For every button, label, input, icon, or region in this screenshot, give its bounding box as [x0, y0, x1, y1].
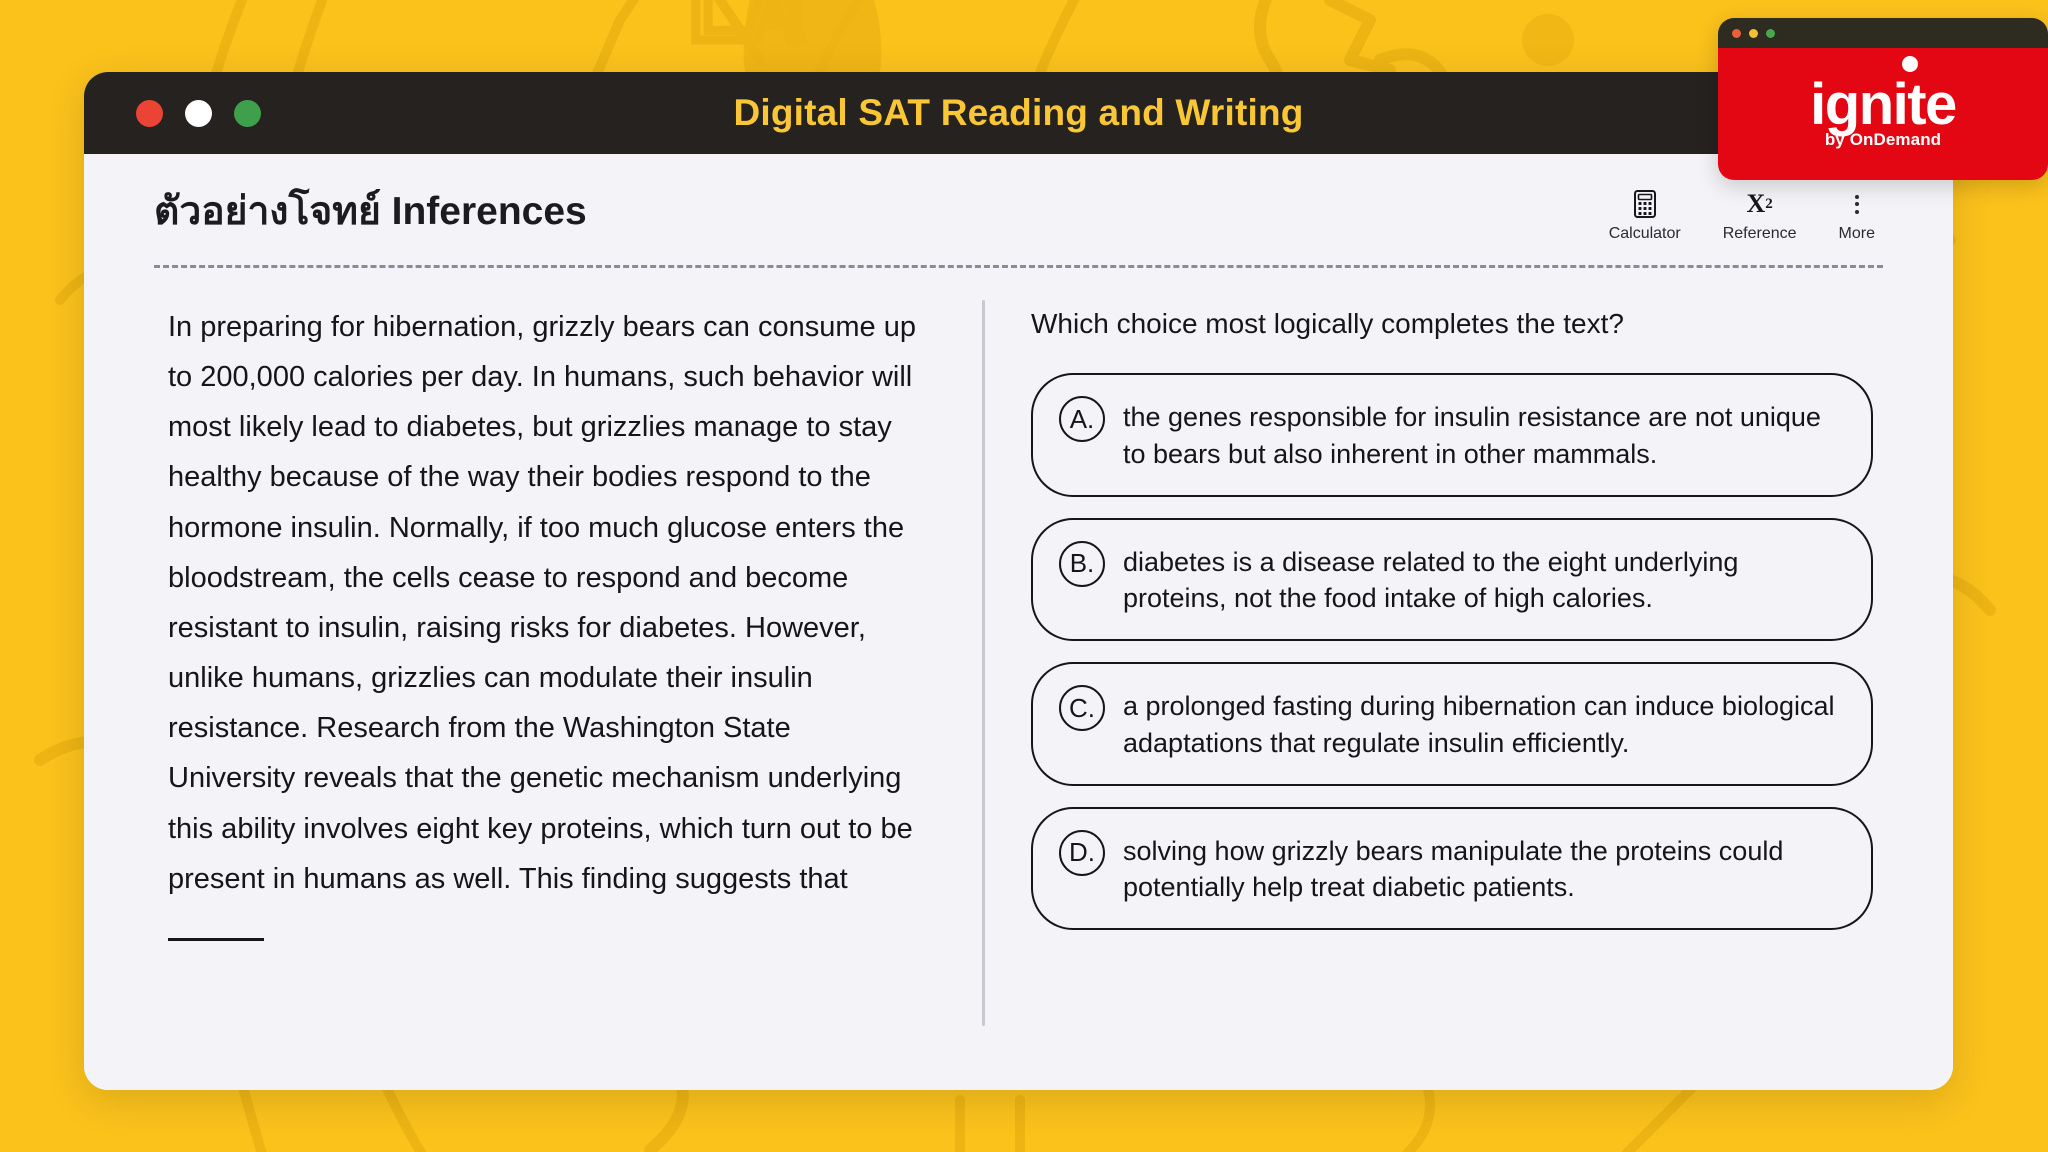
choice-text-a: the genes responsible for insulin resist…: [1123, 395, 1845, 472]
answer-choice-d[interactable]: D. solving how grizzly bears manipulate …: [1031, 807, 1873, 930]
ignite-wordmark: ignite: [1810, 78, 1956, 131]
question-stem: Which choice most logically completes th…: [1031, 304, 1873, 343]
calculator-button[interactable]: Calculator: [1609, 188, 1681, 243]
reference-glyph-sup: 2: [1765, 197, 1773, 212]
reference-button[interactable]: X2 Reference: [1723, 188, 1797, 243]
more-icon: [1855, 188, 1859, 220]
choice-letter-b: B.: [1059, 541, 1105, 587]
question-column: Which choice most logically completes th…: [985, 294, 1883, 1056]
ignite-logo-card: ignite by OnDemand: [1718, 18, 2048, 180]
choice-letter-c: C.: [1059, 685, 1105, 731]
answer-choice-a[interactable]: A. the genes responsible for insulin res…: [1031, 373, 1873, 496]
choice-letter-d: D.: [1059, 830, 1105, 876]
calculator-label: Calculator: [1609, 225, 1681, 243]
ignite-spark-icon: [1902, 56, 1918, 72]
more-button[interactable]: More: [1839, 188, 1875, 243]
toolbar: Calculator X2 Reference More: [1609, 182, 1883, 243]
passage-blank-line: [168, 938, 264, 941]
content-body: In preparing for hibernation, grizzly be…: [128, 268, 1909, 1090]
logo-close-dot: [1732, 29, 1741, 38]
answer-choice-b[interactable]: B. diabetes is a disease related to the …: [1031, 518, 1873, 641]
app-window: Digital SAT Reading and Writing ตัวอย่าง…: [84, 72, 1953, 1090]
passage-text: In preparing for hibernation, grizzly be…: [168, 302, 926, 904]
kebab-dots: [1855, 195, 1859, 214]
choice-text-b: diabetes is a disease related to the eig…: [1123, 540, 1845, 617]
window-content: ตัวอย่างโจทย์ Inferences: [84, 154, 1953, 1090]
logo-minimize-dot: [1749, 29, 1758, 38]
choice-letter-a: A.: [1059, 396, 1105, 442]
window-titlebar: Digital SAT Reading and Writing: [84, 72, 1953, 154]
passage-column: In preparing for hibernation, grizzly be…: [154, 294, 982, 1056]
logo-maximize-dot: [1766, 29, 1775, 38]
page-title: ตัวอย่างโจทย์ Inferences: [154, 182, 587, 237]
reference-label: Reference: [1723, 225, 1797, 243]
reference-glyph-base: X: [1746, 191, 1765, 217]
calculator-icon: [1634, 188, 1656, 220]
more-label: More: [1839, 225, 1875, 243]
logo-card-body: ignite by OnDemand: [1718, 48, 2048, 180]
reference-icon: X2: [1746, 188, 1772, 220]
content-header: ตัวอย่างโจทย์ Inferences: [128, 182, 1909, 243]
window-title: Digital SAT Reading and Writing: [84, 92, 1953, 134]
answer-choice-c[interactable]: C. a prolonged fasting during hibernatio…: [1031, 662, 1873, 785]
choice-text-c: a prolonged fasting during hibernation c…: [1123, 684, 1845, 761]
logo-card-titlebar: [1718, 18, 2048, 48]
choice-text-d: solving how grizzly bears manipulate the…: [1123, 829, 1845, 906]
svg-text:LA: LA: [690, 0, 805, 59]
